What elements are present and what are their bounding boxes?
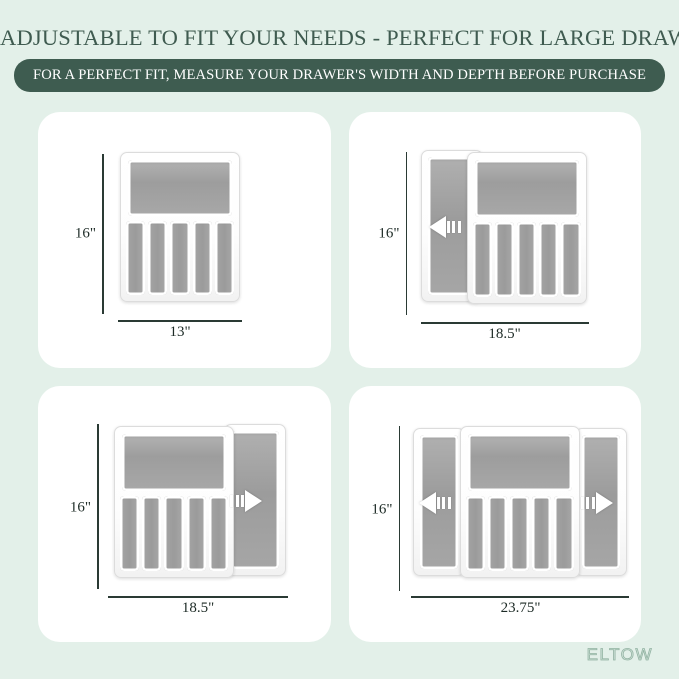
tray-wide-compartment xyxy=(468,434,572,491)
expand-left-arrow-icon xyxy=(429,216,461,238)
tray-slot-row xyxy=(473,222,581,297)
tray-slot xyxy=(120,496,139,571)
width-dimension-line xyxy=(118,320,242,322)
expand-left-arrow-icon xyxy=(419,492,451,514)
arrow-head xyxy=(429,216,446,238)
tray-slot xyxy=(488,496,507,571)
tray-wide-compartment xyxy=(475,160,579,217)
panel-expanded-left-card: 16" 18.5" xyxy=(349,112,642,368)
tray-slot xyxy=(532,496,551,571)
tray-slot xyxy=(187,496,206,571)
product-panel-grid: 16" 13" 16" xyxy=(0,112,679,642)
arrow-head xyxy=(419,492,436,514)
height-dimension-line xyxy=(97,424,99,589)
arrow-head xyxy=(245,490,262,512)
tray-slot xyxy=(495,222,514,297)
tray-slot xyxy=(473,222,492,297)
tray-slot xyxy=(209,496,228,571)
width-dimension-label: 18.5" xyxy=(182,600,214,617)
panel-closed-figure: 16" 13" xyxy=(38,112,331,368)
panel-expanded-right-figure: 16" 18.5" xyxy=(38,386,331,642)
expand-right-arrow-icon xyxy=(230,490,262,512)
tray-slot xyxy=(561,222,580,297)
tray-slot xyxy=(126,221,145,295)
tray-slot xyxy=(215,221,234,295)
brand-logo: ELTOW xyxy=(587,645,653,665)
tray-slot xyxy=(554,496,573,571)
arrow-shaft xyxy=(447,221,461,233)
page-headline: ADJUSTABLE TO FIT YOUR NEEDS - PERFECT F… xyxy=(0,0,679,51)
arrow-head xyxy=(596,492,613,514)
height-dimension-label: 16" xyxy=(70,500,91,517)
height-dimension-label: 16" xyxy=(75,226,96,243)
tray-slot xyxy=(148,221,167,295)
height-dimension-line xyxy=(102,154,104,314)
tray-slot xyxy=(539,222,558,297)
arrow-shaft xyxy=(230,495,244,507)
width-dimension-label: 13" xyxy=(169,324,190,341)
arrow-shaft xyxy=(437,497,451,509)
tray-wide-compartment xyxy=(128,160,232,216)
width-dimension-label: 18.5" xyxy=(488,326,520,343)
tray-slot-row xyxy=(466,496,574,571)
width-dimension-line xyxy=(411,596,629,598)
tray-slot xyxy=(164,496,183,571)
tray-slot-row xyxy=(126,221,234,295)
panel-expanded-right-card: 16" 18.5" xyxy=(38,386,331,642)
measure-banner: FOR A PERFECT FIT, MEASURE YOUR DRAWER'S… xyxy=(14,59,665,92)
measure-banner-text: FOR A PERFECT FIT, MEASURE YOUR DRAWER'S… xyxy=(33,67,646,84)
height-dimension-line xyxy=(399,426,401,591)
height-dimension-label: 16" xyxy=(378,226,399,243)
panel-expanded-left-figure: 16" 18.5" xyxy=(349,112,642,368)
height-dimension-line xyxy=(406,152,408,315)
expand-right-arrow-icon xyxy=(581,492,613,514)
width-dimension-line xyxy=(108,596,288,598)
tray-slot xyxy=(142,496,161,571)
panel-expanded-both-figure: 16" xyxy=(349,386,642,642)
panel-expanded-both-card: 16" xyxy=(349,386,642,642)
tray-body xyxy=(467,152,587,304)
height-dimension-label: 16" xyxy=(371,502,392,519)
arrow-shaft xyxy=(581,497,595,509)
tray-body xyxy=(114,426,234,578)
tray-body xyxy=(460,426,580,578)
tray-slot xyxy=(193,221,212,295)
panel-closed-card: 16" 13" xyxy=(38,112,331,368)
width-dimension-label: 23.75" xyxy=(501,600,541,617)
tray-wide-compartment xyxy=(122,434,226,491)
tray-slot xyxy=(517,222,536,297)
width-dimension-line xyxy=(421,322,589,324)
tray-slot xyxy=(170,221,189,295)
tray-slot xyxy=(466,496,485,571)
tray-slot-row xyxy=(120,496,228,571)
tray-body xyxy=(120,152,240,302)
tray-slot xyxy=(510,496,529,571)
